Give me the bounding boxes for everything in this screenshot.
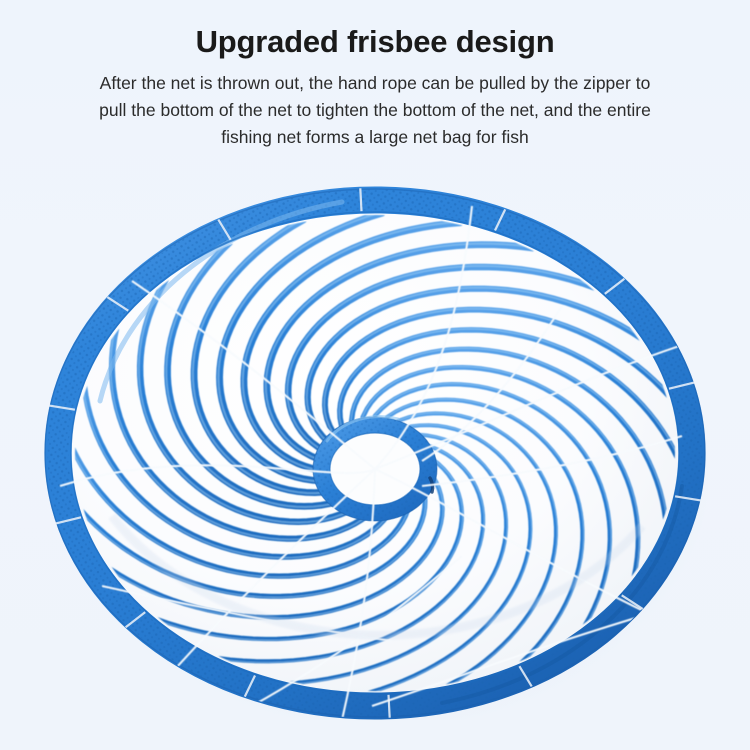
description-line-3: fishing net forms a large net bag for fi… (35, 124, 715, 151)
rim-seam (389, 695, 390, 718)
description-line-1: After the net is thrown out, the hand ro… (35, 70, 715, 97)
product-feature-page: Upgraded frisbee design After the net is… (0, 0, 750, 750)
rim-seam (360, 188, 361, 211)
page-description: After the net is thrown out, the hand ro… (35, 70, 715, 151)
page-title: Upgraded frisbee design (0, 22, 750, 62)
description-line-2: pull the bottom of the net to tighten th… (35, 97, 715, 124)
product-image (42, 186, 708, 720)
header-block: Upgraded frisbee design After the net is… (0, 0, 750, 151)
frisbee-disc-illustration (42, 186, 708, 720)
